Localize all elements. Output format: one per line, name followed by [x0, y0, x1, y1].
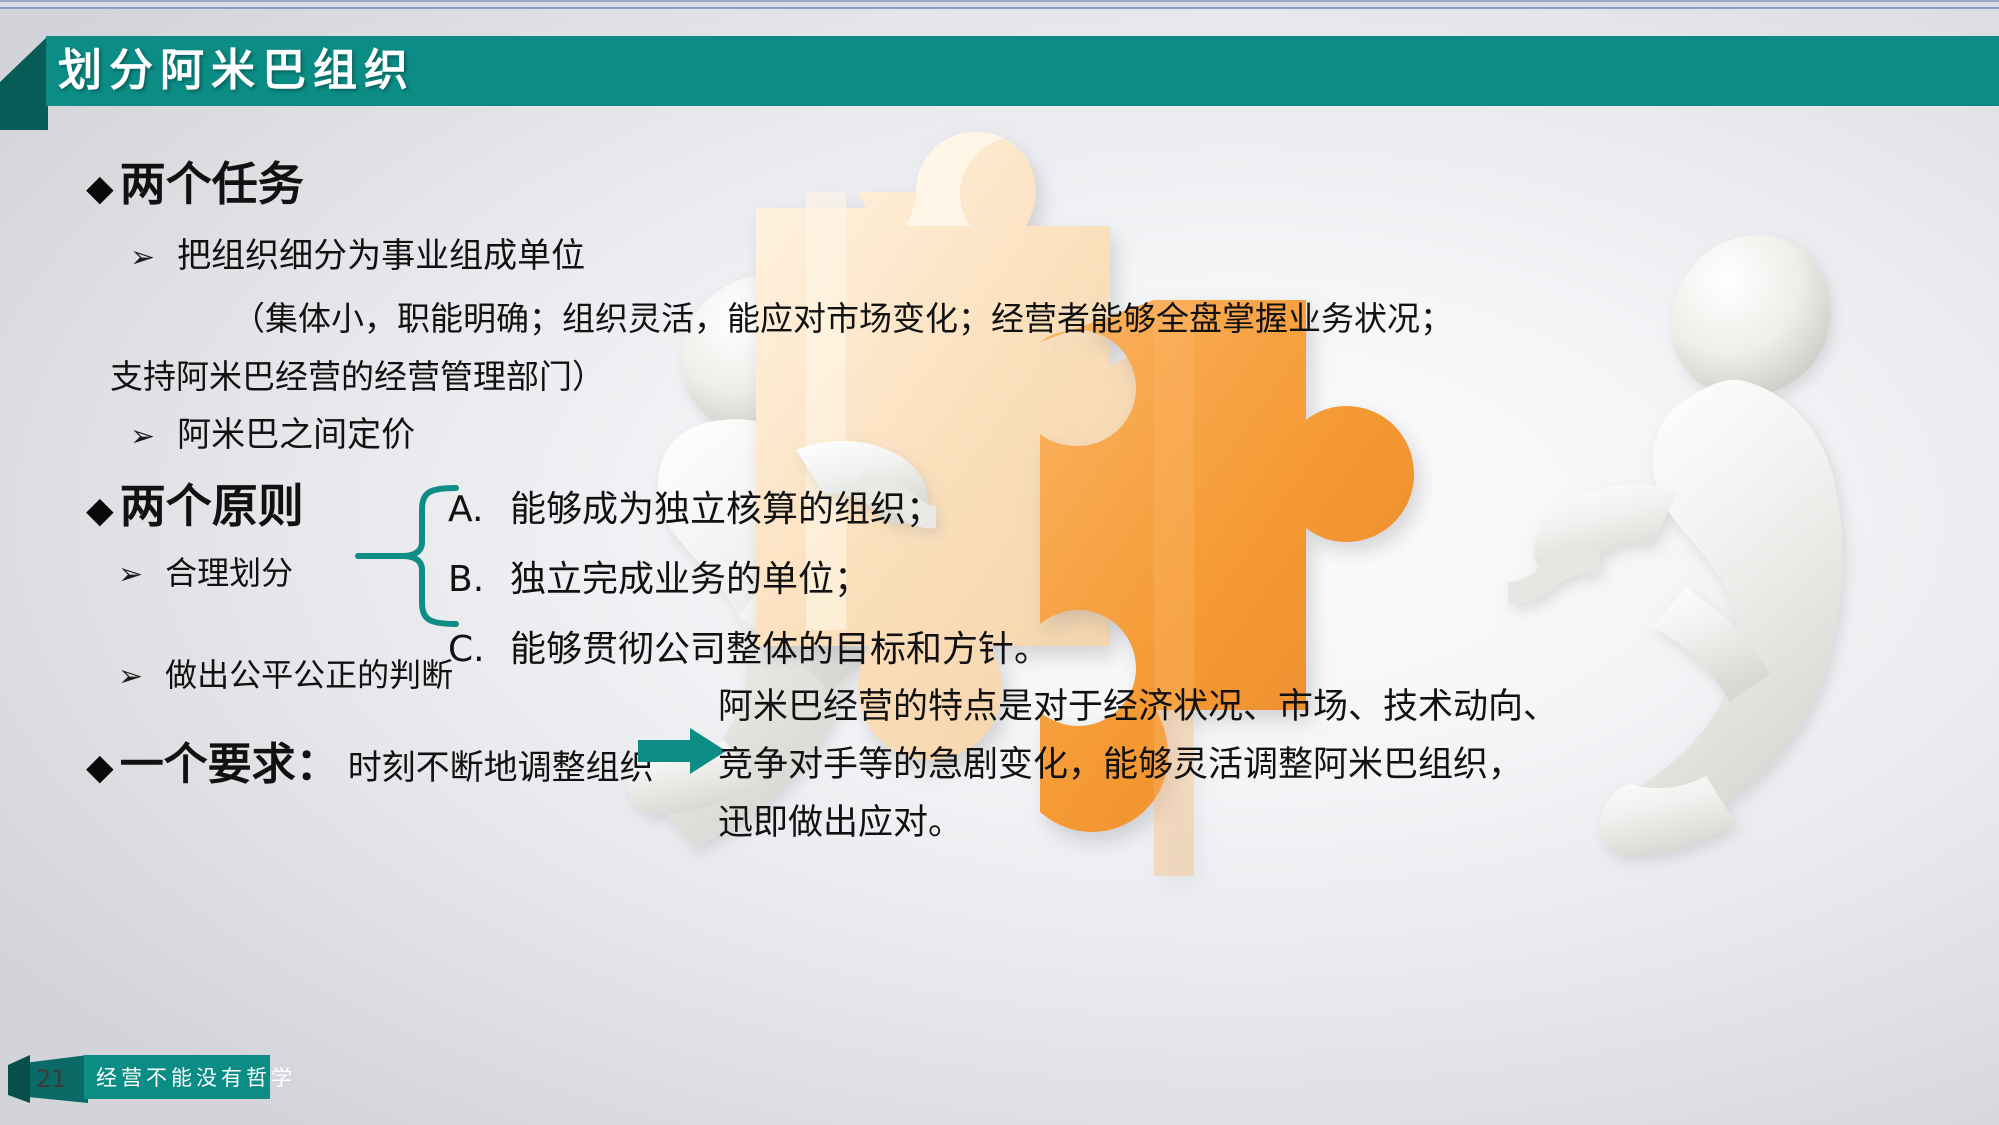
list-item-criteria-b: B. 独立完成业务的单位； — [448, 550, 1050, 602]
list-item-task-1-label: 把组织细分为事业组成单位 — [177, 228, 585, 277]
heading-two-principles-label: 两个原则 — [120, 470, 304, 536]
list-item-task-2: ➢ 阿米巴之间定价 — [130, 407, 415, 456]
tasks-note-line-1: （集体小，职能明确；组织灵活，能应对市场变化；经营者能够全盘掌握业务状况； — [232, 292, 1453, 340]
diamond-bullet-icon: ◆ — [86, 171, 114, 207]
arrow-bullet-icon: ➢ — [130, 419, 155, 454]
page-title: 划分阿米巴组织 — [58, 41, 415, 101]
heading-two-tasks-label: 两个任务 — [120, 148, 304, 214]
arrow-bullet-icon: ➢ — [118, 557, 143, 592]
callout-line-3: 迅即做出应对。 — [718, 794, 1988, 852]
list-item-principle-2: ➢ 做出公平公正的判断 — [118, 650, 453, 696]
diamond-bullet-icon: ◆ — [86, 493, 114, 529]
curly-brace-icon — [352, 482, 462, 630]
page-number: 21 — [36, 1065, 67, 1093]
list-item-task-1: ➢ 把组织细分为事业组成单位 — [130, 228, 585, 277]
criteria-c-label: 能够贯彻公司整体的目标和方针。 — [510, 620, 1050, 672]
footer-label: 经营不能没有哲学 — [96, 1062, 296, 1092]
title-bar-corner-shadow — [0, 36, 48, 136]
list-item-principle-1-label: 合理划分 — [165, 548, 293, 594]
callout-paragraph: 阿米巴经营的特点是对于经济状况、市场、技术动向、 竞争对手等的急剧变化，能够灵活… — [718, 678, 1988, 852]
heading-two-principles: ◆ 两个原则 — [86, 470, 304, 536]
requirement-detail: 时刻不断地调整组织 — [348, 740, 654, 789]
arrow-bullet-icon: ➢ — [118, 659, 143, 694]
list-item-task-2-label: 阿米巴之间定价 — [177, 407, 415, 456]
right-arrow-icon — [638, 728, 726, 774]
list-item-criteria-c: C. 能够贯彻公司整体的目标和方针。 — [448, 620, 1050, 672]
criteria-a-marker: A. — [448, 489, 510, 530]
criteria-list: A. 能够成为独立核算的组织； B. 独立完成业务的单位； C. 能够贯彻公司整… — [448, 480, 1050, 690]
callout-line-2: 竞争对手等的急剧变化，能够灵活调整阿米巴组织， — [718, 736, 1988, 794]
criteria-c-marker: C. — [448, 629, 510, 670]
list-item-criteria-a: A. 能够成为独立核算的组织； — [448, 480, 1050, 532]
slide-canvas: 划分阿米巴组织 ◆ 两个任务 ➢ 把组织细分为事业组成单位 （集体小，职能明确；… — [0, 0, 1999, 1125]
criteria-a-label: 能够成为独立核算的组织； — [510, 480, 942, 532]
tasks-note-line-2: 支持阿米巴经营的经营管理部门） — [110, 350, 605, 398]
arrow-bullet-icon: ➢ — [130, 240, 155, 275]
heading-two-tasks: ◆ 两个任务 — [86, 148, 304, 214]
list-item-principle-2-label: 做出公平公正的判断 — [165, 650, 453, 696]
criteria-b-marker: B. — [448, 559, 510, 600]
window-top-rule — [0, 0, 1999, 2]
criteria-b-label: 独立完成业务的单位； — [510, 550, 870, 602]
callout-line-1: 阿米巴经营的特点是对于经济状况、市场、技术动向、 — [718, 678, 1988, 736]
heading-one-requirement-label: 一个要求： — [120, 728, 340, 792]
list-item-principle-1: ➢ 合理划分 — [118, 548, 293, 594]
heading-one-requirement: ◆ 一个要求： 时刻不断地调整组织 — [86, 728, 654, 792]
diamond-bullet-icon: ◆ — [86, 750, 114, 786]
